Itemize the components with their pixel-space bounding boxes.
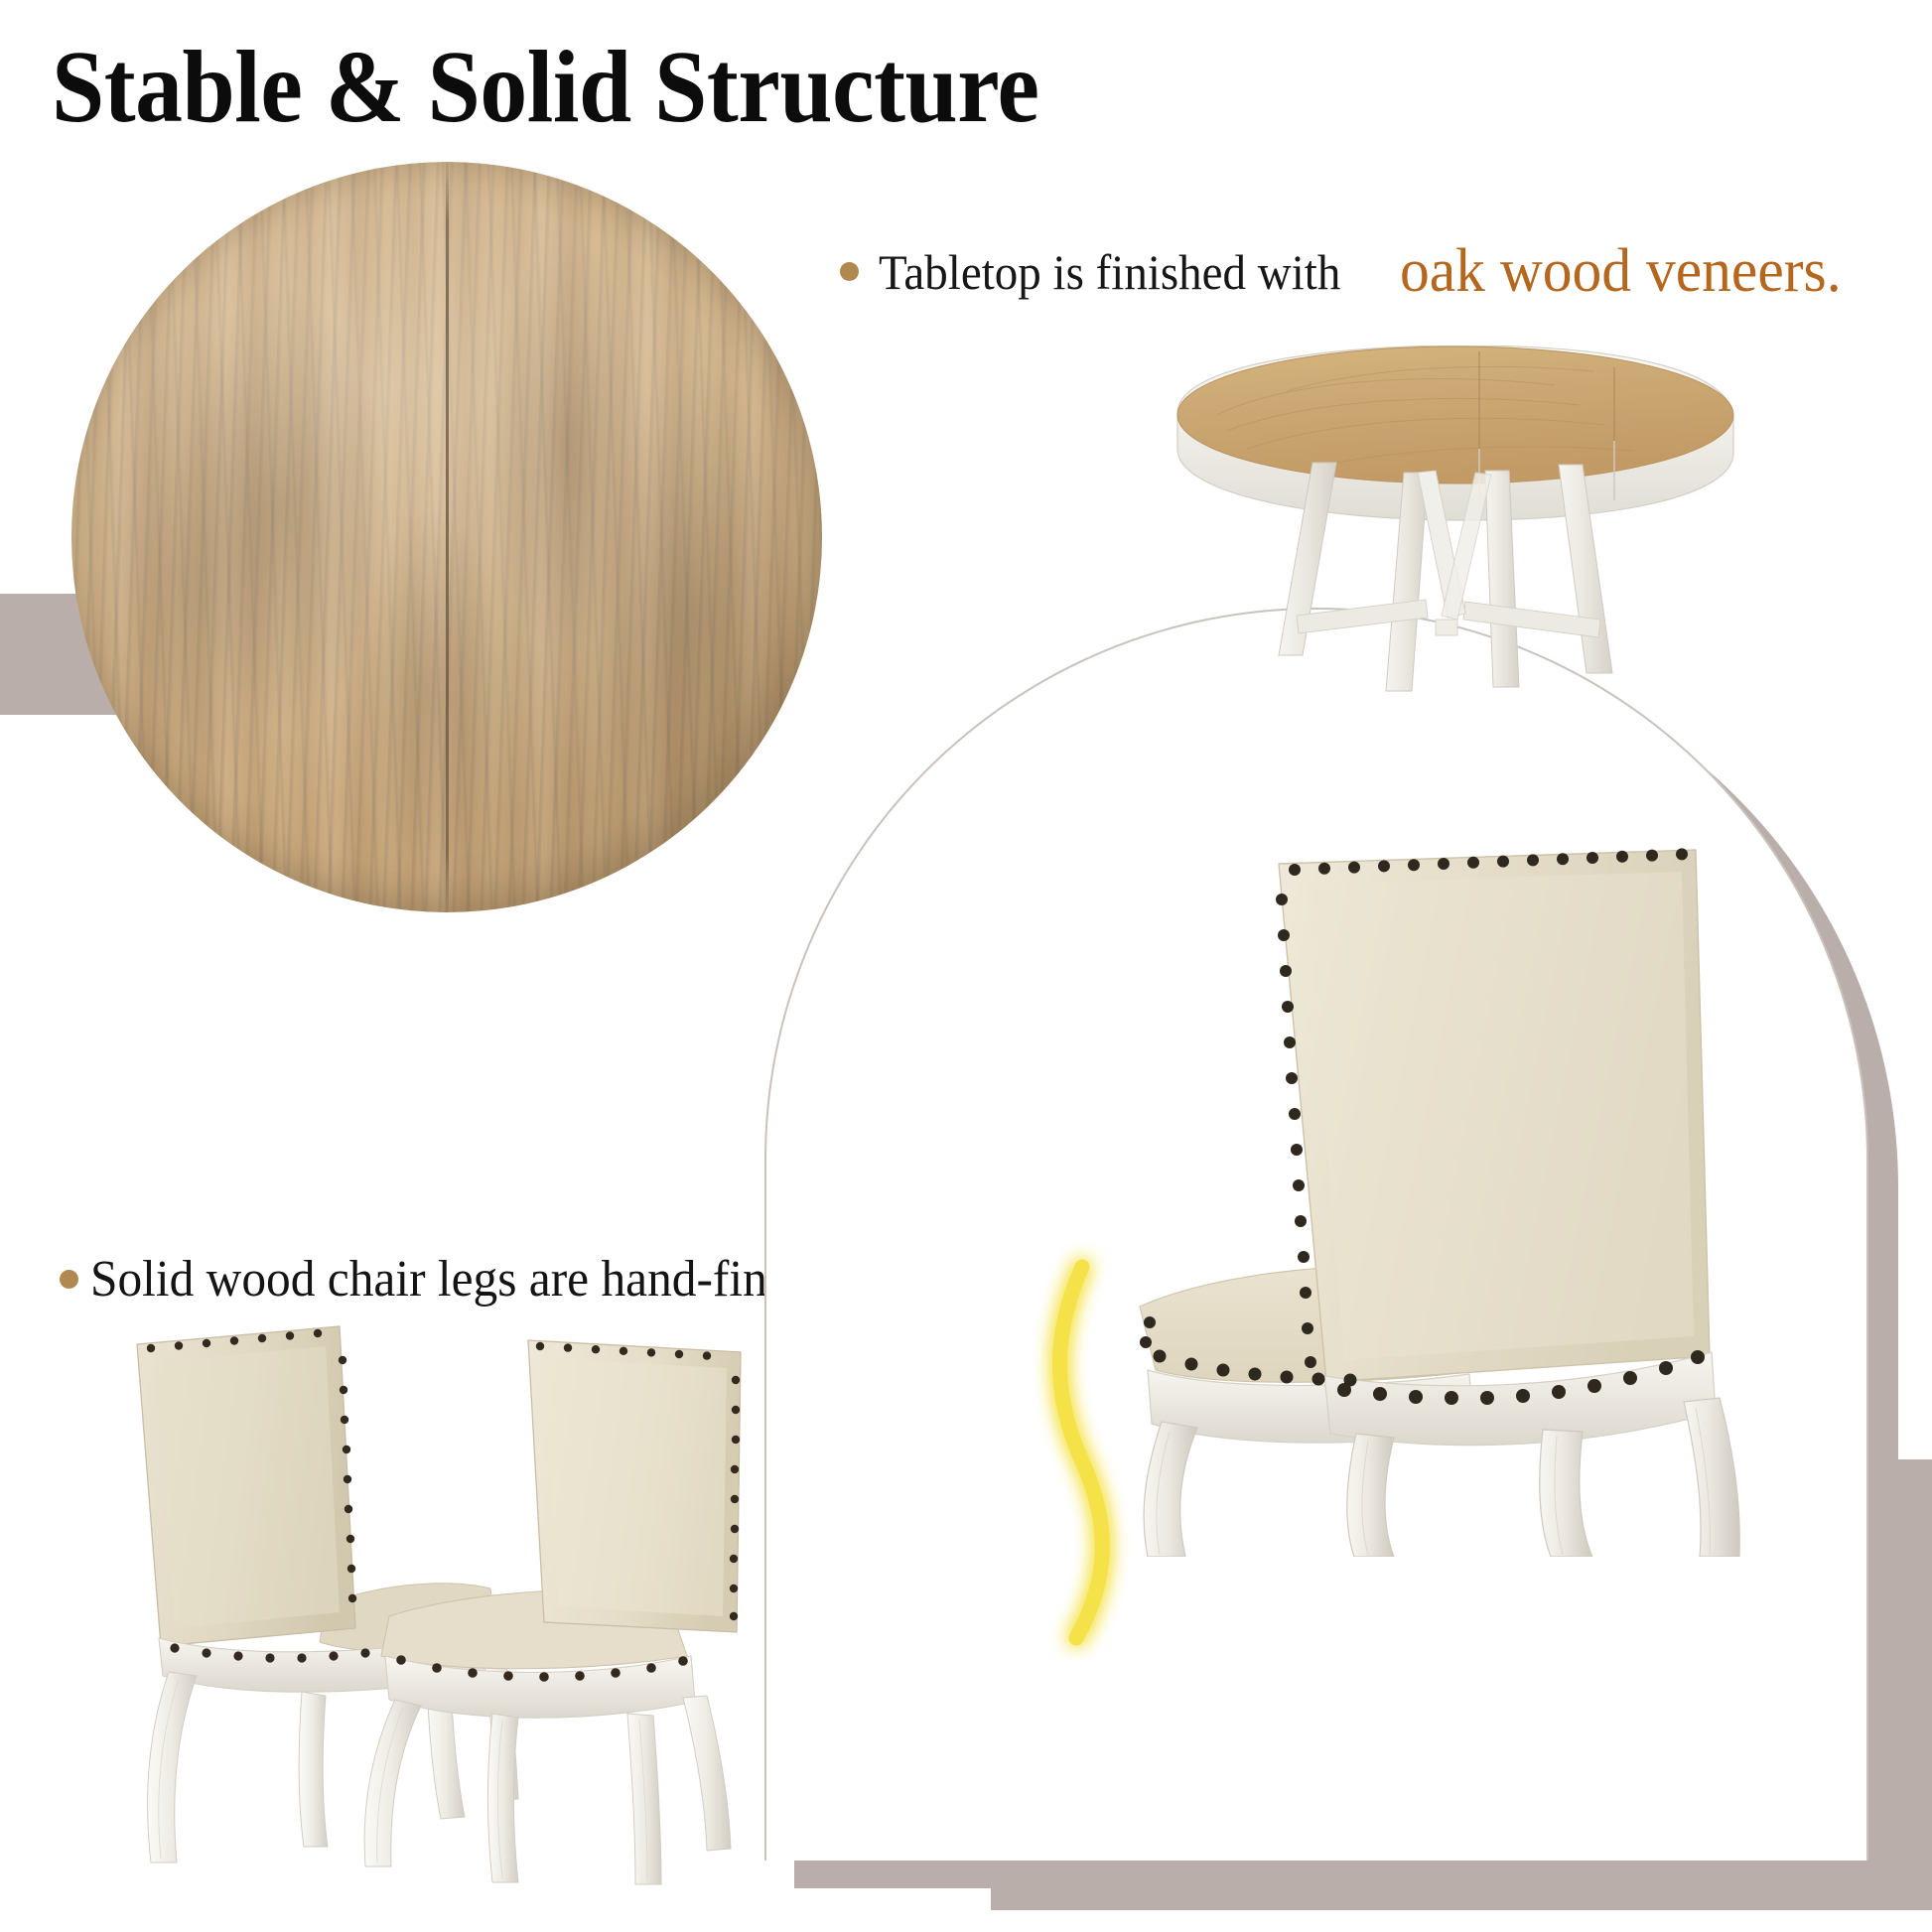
hero-chair-image [1040, 840, 1775, 1557]
bullet-dot-icon [840, 262, 859, 281]
bullet-dot-icon [60, 1270, 78, 1289]
page-title: Stable & Solid Structure [52, 30, 1039, 145]
tabletop-edge-shading [71, 162, 822, 912]
infographic-page: Stable & Solid Structure Tabletop is fin… [0, 0, 1932, 1932]
bullet-tabletop-lead: Tabletop is finished with [879, 243, 1340, 301]
tabletop-closeup-image [71, 162, 822, 912]
bullet-chair-legs-text: Solid wood chair legs are hand-finished [90, 1250, 871, 1309]
bullet-tabletop-emphasis: oak wood veneers. [1400, 236, 1842, 307]
dining-table-image [1138, 345, 1773, 711]
bullet-tabletop: Tabletop is finished with oak wood venee… [840, 236, 1860, 307]
chairs-pair-image [95, 1318, 790, 1932]
